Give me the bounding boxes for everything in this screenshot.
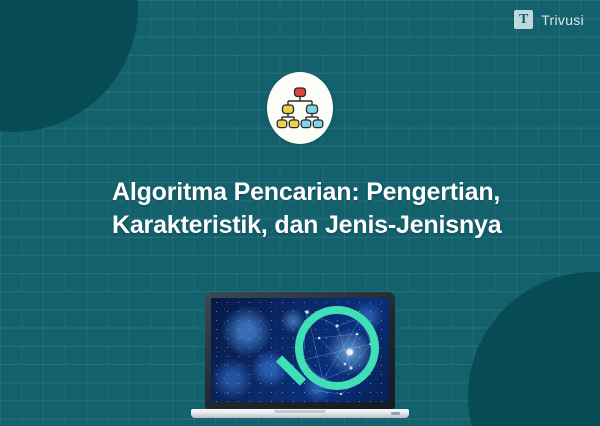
thumbnail-canvas: T Trivusi [0,0,600,426]
magnifying-glass-search-icon [295,306,379,390]
laptop-illustration [191,292,409,418]
tree-hierarchy-icon-badge [267,72,333,144]
brand-name-label: Trivusi [541,12,584,28]
laptop-lid [205,292,395,409]
page-title-line-1: Algoritma Pencarian: Pengertian, [112,176,532,209]
page-title: Algoritma Pencarian: Pengertian, Karakte… [112,176,532,241]
magnifier-ring [295,306,379,390]
laptop-base-notch [274,410,326,413]
page-title-line-2: Karakteristik, dan Jenis-Jenisnya [112,209,532,242]
brand-watermark: T Trivusi [514,10,584,29]
laptop-base [191,409,409,418]
tree-hierarchy-icon [276,86,324,130]
letter-t-logomark-icon: T [514,10,533,29]
laptop-base-port [391,412,400,415]
laptop-screen [211,298,389,402]
